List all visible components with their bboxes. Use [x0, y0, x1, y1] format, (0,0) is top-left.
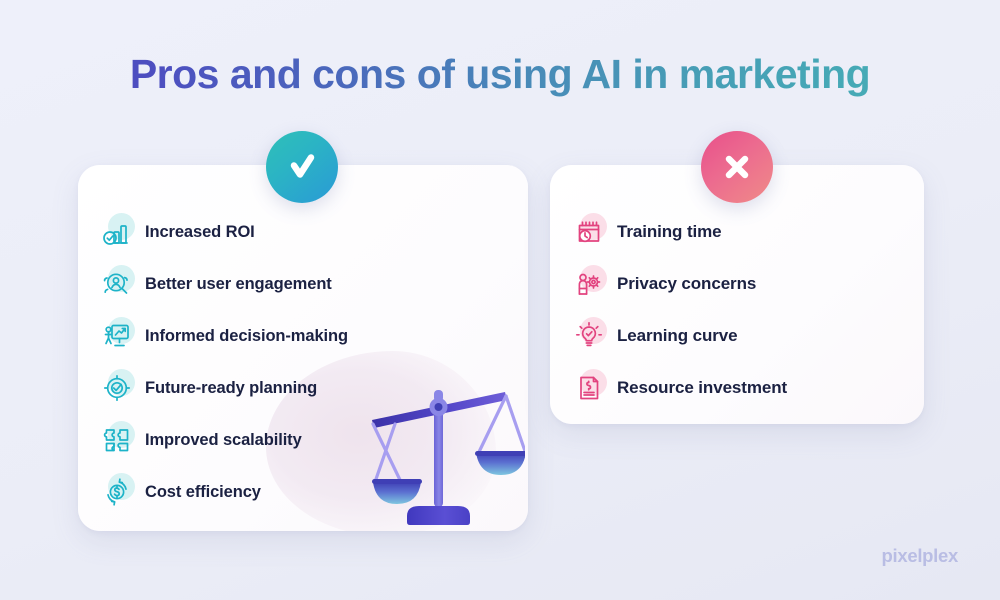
receipt-dollar-icon	[570, 369, 608, 407]
pros-check-badge	[266, 131, 338, 203]
cons-list: Training time Privacy concerns	[570, 206, 787, 414]
list-item: Cost efficiency	[98, 466, 348, 518]
list-item-label: Increased ROI	[145, 223, 255, 242]
infographic-canvas: Pros and cons of using AI in marketing	[0, 0, 1000, 600]
dollar-refresh-icon	[98, 473, 136, 511]
lightbulb-check-icon	[570, 317, 608, 355]
list-item: Informed decision-making	[98, 310, 348, 362]
list-item-label: Improved scalability	[145, 431, 302, 450]
list-item-label: Informed decision-making	[145, 327, 348, 346]
person-gear-icon	[570, 265, 608, 303]
x-icon	[719, 149, 755, 185]
list-item: Resource investment	[570, 362, 787, 414]
list-item-label: Future-ready planning	[145, 379, 317, 398]
list-item: Learning curve	[570, 310, 787, 362]
pros-list: Increased ROI Better user engagement	[98, 206, 348, 518]
list-item-label: Privacy concerns	[617, 274, 756, 294]
list-item-label: Training time	[617, 222, 722, 242]
presentation-growth-icon	[98, 317, 136, 355]
calendar-clock-icon	[570, 213, 608, 251]
list-item: Training time	[570, 206, 787, 258]
list-item: Increased ROI	[98, 206, 348, 258]
list-item-label: Resource investment	[617, 378, 787, 398]
list-item: Future-ready planning	[98, 362, 348, 414]
user-search-icon	[98, 265, 136, 303]
page-title: Pros and cons of using AI in marketing	[0, 46, 1000, 102]
target-check-icon	[98, 369, 136, 407]
check-icon	[283, 148, 321, 186]
list-item-label: Better user engagement	[145, 275, 332, 294]
puzzle-pieces-icon	[98, 421, 136, 459]
list-item: Improved scalability	[98, 414, 348, 466]
bar-chart-check-icon	[98, 213, 136, 251]
balance-scales-illustration	[355, 380, 525, 532]
list-item-label: Learning curve	[617, 326, 737, 346]
list-item-label: Cost efficiency	[145, 483, 261, 502]
pixelplex-logo: pixelplex	[882, 545, 958, 567]
list-item: Privacy concerns	[570, 258, 787, 310]
cons-x-badge	[701, 131, 773, 203]
list-item: Better user engagement	[98, 258, 348, 310]
